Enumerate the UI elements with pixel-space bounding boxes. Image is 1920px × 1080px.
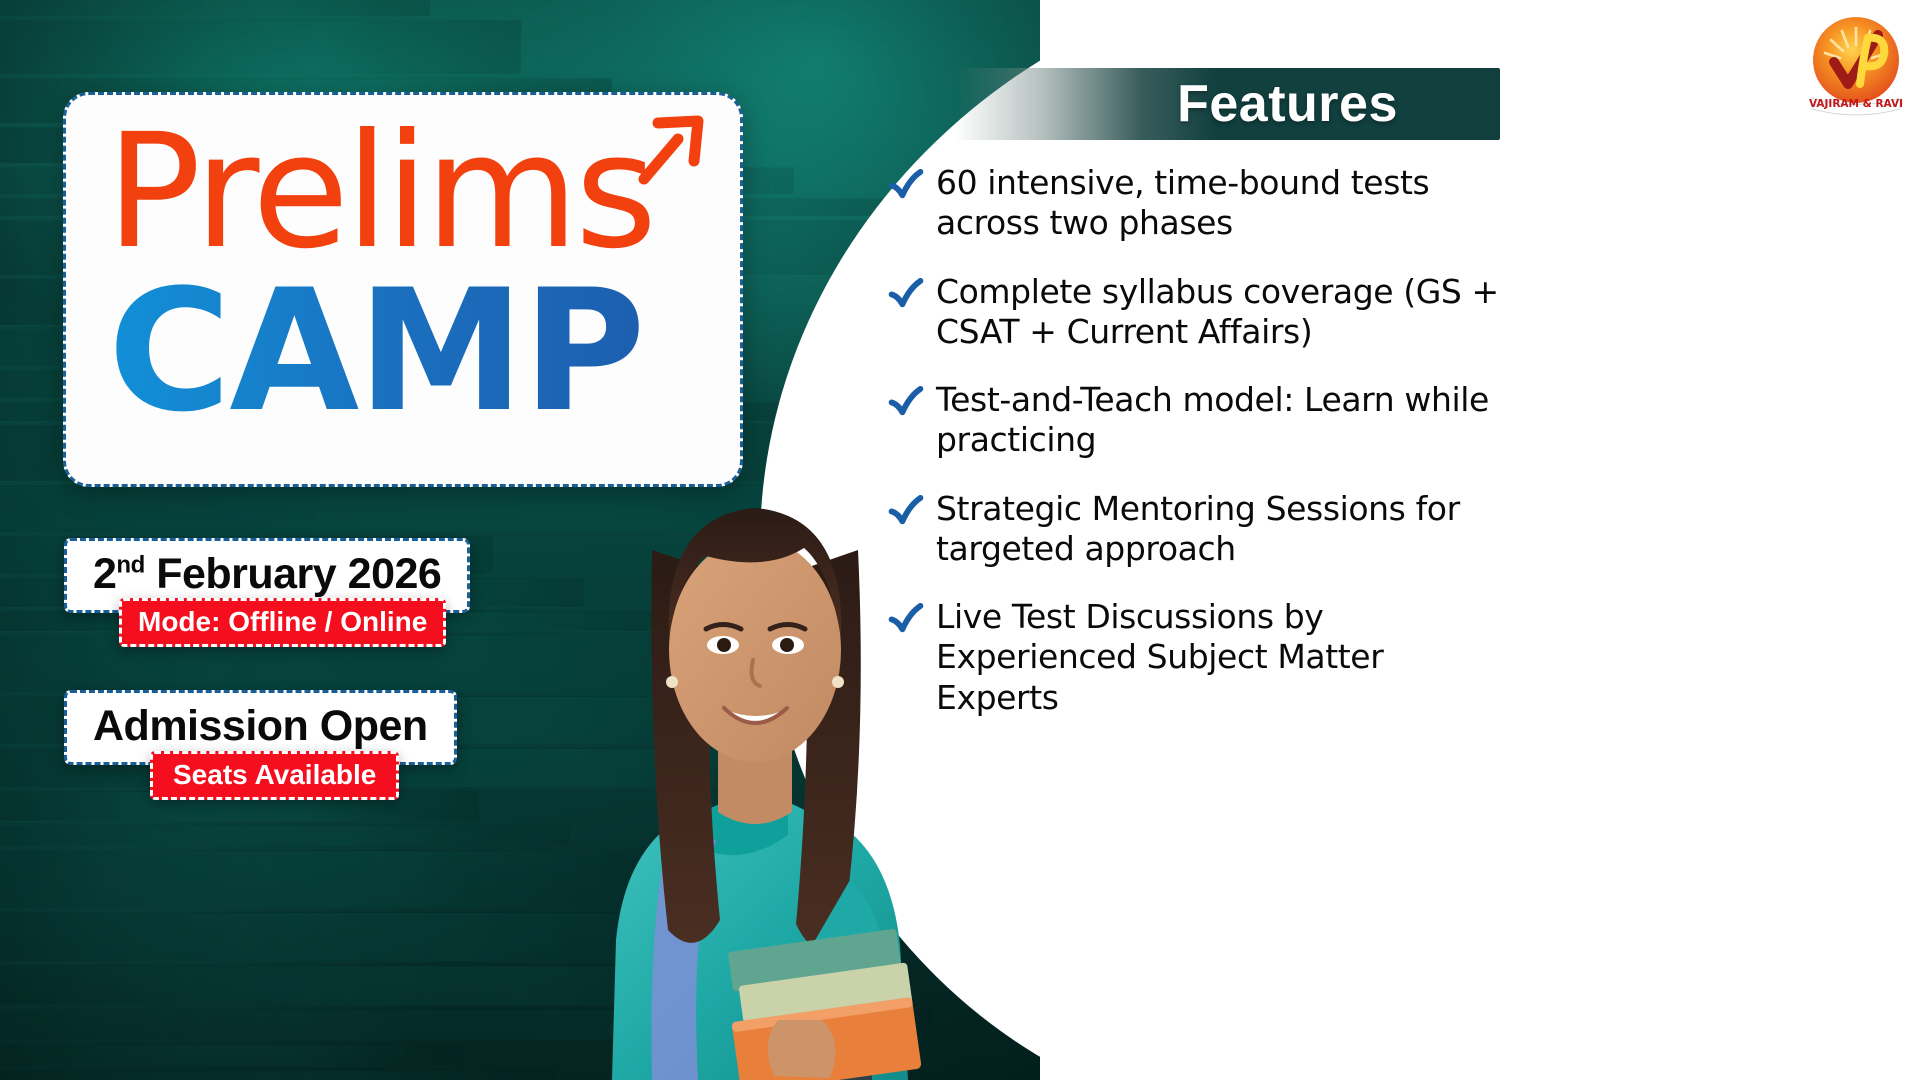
date-ordinal-suffix: nd	[116, 552, 144, 579]
feature-item: Complete syllabus coverage (GS + CSAT + …	[888, 272, 1513, 353]
admission-open-text: Admission Open	[93, 702, 428, 751]
course-date-text: 2nd February 2026	[93, 550, 441, 599]
features-header-banner: Features	[955, 68, 1500, 140]
growth-arrow-icon	[632, 113, 706, 187]
feature-text: Live Test Discussions by Experienced Sub…	[936, 597, 1513, 718]
feature-text: Complete syllabus coverage (GS + CSAT + …	[936, 272, 1513, 353]
course-mode-badge: Mode: Offline / Online	[119, 598, 446, 647]
course-title-prelims: Prelims	[106, 113, 653, 271]
date-day-number: 2	[93, 550, 116, 598]
features-header-title: Features	[1057, 74, 1398, 134]
date-month-year: February 2026	[145, 550, 442, 598]
promotional-banner: Prelims CAMP 2nd February 2026 Mode: Off…	[0, 0, 1920, 1080]
course-mode-text: Mode: Offline / Online	[138, 606, 427, 638]
feature-text: Strategic Mentoring Sessions for targete…	[936, 489, 1513, 570]
vajiram-ravi-logo: VAJIRAM & RAVI	[1806, 12, 1906, 120]
feature-item: Test-and-Teach model: Learn while practi…	[888, 380, 1513, 461]
feature-item: 60 intensive, time-bound tests across tw…	[888, 163, 1513, 244]
feature-text: 60 intensive, time-bound tests across tw…	[936, 163, 1513, 244]
blue-check-icon	[888, 380, 936, 422]
feature-item: Strategic Mentoring Sessions for targete…	[888, 489, 1513, 570]
feature-item: Live Test Discussions by Experienced Sub…	[888, 597, 1513, 718]
blue-check-icon	[888, 163, 936, 205]
blue-check-icon	[888, 489, 936, 531]
features-list: 60 intensive, time-bound tests across tw…	[888, 163, 1513, 746]
blue-check-icon	[888, 597, 936, 639]
seats-available-badge: Seats Available	[150, 751, 399, 800]
seats-available-text: Seats Available	[173, 759, 376, 791]
feature-text: Test-and-Teach model: Learn while practi…	[936, 380, 1513, 461]
svg-text:VAJIRAM & RAVI: VAJIRAM & RAVI	[1809, 98, 1903, 110]
blue-check-icon	[888, 272, 936, 314]
